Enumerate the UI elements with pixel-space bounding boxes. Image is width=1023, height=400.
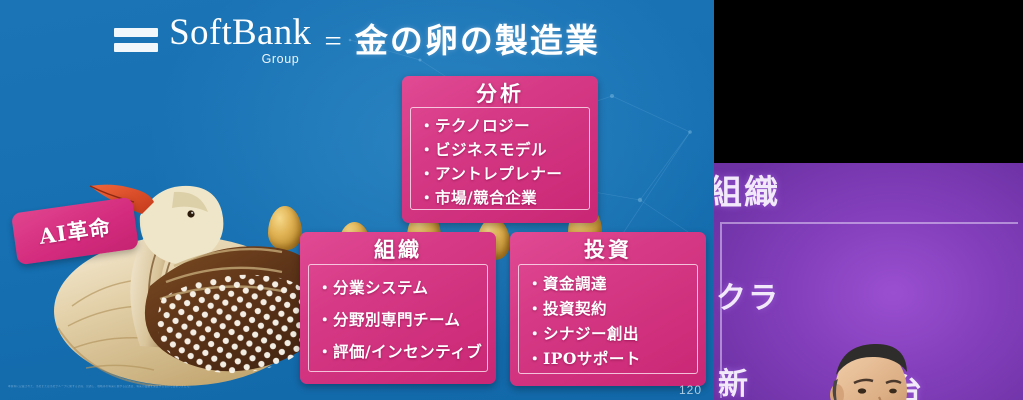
list-item: ・分野別専門チーム: [317, 305, 481, 334]
slide-number: 120: [679, 383, 702, 397]
video-letterbox-top: [714, 0, 1023, 163]
panel-analysis-title: 分析: [410, 80, 590, 107]
list-item: ・アントレプレナー: [419, 162, 583, 186]
panel-analysis-list: ・テクノロジー ・ビジネスモデル ・アントレプレナー ・市場/競合企業: [410, 107, 590, 210]
panel-investment-title: 投資: [518, 236, 698, 264]
panel-organization-list: ・分業システム ・分野別専門チーム ・評価/インセンティブ: [308, 264, 488, 372]
stage-backdrop: 組織 クラ 新 台: [714, 163, 1023, 400]
list-item: ・ビジネスモデル: [419, 138, 583, 162]
list-item: ・評価/インセンティブ: [317, 337, 481, 366]
list-item: ・市場/競合企業: [419, 186, 583, 210]
list-item: ・投資契約: [527, 296, 691, 321]
video-panel[interactable]: 組織 クラ 新 台: [714, 0, 1023, 400]
presentation-slide: SoftBank Group = 金の卵の製造業: [0, 0, 714, 400]
list-item: ・分業システム: [317, 273, 481, 302]
list-item: ・資金調達: [527, 271, 691, 296]
panel-investment-list: ・資金調達 ・投資契約 ・シナジー創出 ・IPOサポート: [518, 264, 698, 374]
panel-investment: 投資 ・資金調達 ・投資契約 ・シナジー創出 ・IPOサポート: [510, 232, 706, 386]
page-title: 金の卵の製造業: [355, 24, 600, 57]
backdrop-text-line-2: クラ: [716, 273, 780, 317]
list-item: ・シナジー創出: [527, 321, 691, 346]
list-item: ・IPOサポート: [527, 346, 691, 371]
screen: SoftBank Group = 金の卵の製造業: [0, 0, 1023, 400]
slide-disclaimer: 本資料に記載された、当社または当社グループに関する計画、見通し、戦略等の将来に関…: [8, 385, 428, 393]
backdrop-text-line-1: 組織: [714, 165, 780, 214]
softbank-logo-icon: [114, 28, 158, 52]
ai-revolution-label: AI革命: [37, 211, 113, 251]
list-item: ・テクノロジー: [419, 114, 583, 138]
brand-subtitle: Group: [262, 52, 300, 66]
panel-organization: 組織 ・分業システム ・分野別専門チーム ・評価/インセンティブ: [300, 232, 496, 384]
speaker-figure: [758, 341, 1008, 400]
panel-organization-title: 組織: [308, 236, 488, 264]
panel-analysis: 分析 ・テクノロジー ・ビジネスモデル ・アントレプレナー ・市場/競合企業: [402, 76, 598, 223]
backdrop-text-line-3: 新: [718, 359, 750, 400]
equals-sign: =: [322, 25, 343, 56]
softbank-wordmark: SoftBank Group: [169, 14, 311, 66]
slide-header: SoftBank Group = 金の卵の製造業: [0, 12, 714, 68]
brand-name: SoftBank: [169, 14, 311, 51]
